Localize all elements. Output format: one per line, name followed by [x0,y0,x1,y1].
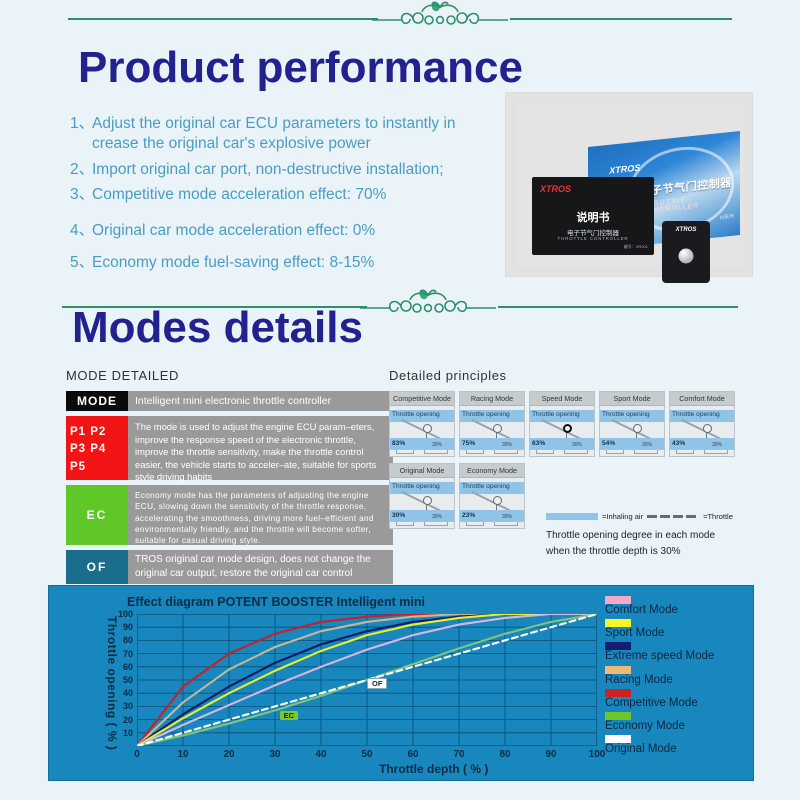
legend-item: Sport Mode [605,619,714,640]
list-item-text: Adjust the original car ECU parameters t… [92,114,500,154]
y-tick-label: 30 [123,701,133,711]
value-band: 63% [530,438,594,449]
throttle-opening-band: Throttle opening [390,482,454,494]
card-sub-label: Throttle opening [462,483,510,490]
list-item: 3、 Competitive mode acceleration effect:… [70,185,500,205]
x-tick-label: 40 [315,749,326,760]
detailed-principles-label: Detailed principles [389,368,735,383]
manual-english-subtitle: THROTTLE CONTROLLER [558,236,629,241]
x-tick-label: 10 [177,749,188,760]
throttle-opening-band: Throttle opening [670,410,734,422]
throttle-knob-icon [493,496,502,505]
x-tick-label: 80 [499,749,510,760]
legend-label: Original Mode [605,743,714,756]
row-key-ec: EC [66,485,128,545]
card-sub-label: Throttle opening [672,411,720,418]
product-manual: XTROS 说明书 电子节气门控制器 THROTTLE CONTROLLER 编… [532,177,654,255]
list-item-number: 2、 [70,160,92,180]
card-depth-label: 30% [572,442,582,448]
legend-caption-line2: when the throttle depth is 30% [546,544,761,560]
legend-swatch [605,642,631,650]
card-title: Sport Mode [600,392,664,406]
legend-label: Economy Mode [605,720,714,733]
table-row: OF TROS original car mode design, does n… [66,550,393,584]
x-tick-label: 0 [134,749,140,760]
card-diagram: Throttle opening 30% 30% [390,478,454,528]
chart-title: Effect diagram POTENT BOOSTER Intelligen… [127,595,425,609]
throttle-opening-band: Throttle opening [390,410,454,422]
throttle-knob-icon [423,424,432,433]
value-band: 43% [670,438,734,449]
list-item-text: Competitive mode acceleration effect: 70… [92,185,500,205]
value-band: 75% [460,438,524,449]
inhaling-air-label: =Inhaling air [602,512,643,521]
page-title: Product performance [78,45,523,91]
card-value: 30% [392,512,405,519]
throttle-opening-band: Throttle opening [460,410,524,422]
product-photo-inner: XTROS 电子节气门控制器 THROTTLE CONTROLLER M系列 X… [516,103,744,268]
legend-swatch [605,596,631,604]
mode-card-comfort: Comfort Mode Throttle opening 43% 30% [669,391,735,457]
table-row: MODE Intelligent mini electronic throttl… [66,391,393,411]
y-tick-label: 50 [123,675,133,685]
ornament-line-right [510,18,732,20]
legend-swatch [605,712,631,720]
box-model-label: M系列 [720,213,734,221]
table-row: EC Economy mode has the parameters of ad… [66,485,393,545]
mode-card-competitive: Competitive Mode Throttle opening 83% 30… [389,391,455,457]
product-photo: XTROS 电子节气门控制器 THROTTLE CONTROLLER M系列 X… [505,92,753,277]
throttle-knob-icon [423,496,432,505]
mode-card-sport: Sport Mode Throttle opening 54% 30% [599,391,665,457]
manual-code: 编号：XR001 [624,244,648,250]
throttle-opening-band: Throttle opening [460,482,524,494]
card-sub-label: Throttle opening [462,411,510,418]
card-diagram: Throttle opening 63% 30% [530,406,594,456]
mode-card-racing: Racing Mode Throttle opening 75% 30% [459,391,525,457]
list-item: 4、 Original car mode acceleration effect… [70,221,500,241]
legend-caption-line1: Throttle opening degree in each mode [546,528,761,544]
legend-label: Sport Mode [605,627,714,640]
device-knob-icon [679,248,694,263]
manual-chinese-title: 说明书 [577,209,610,225]
y-tick-label: 20 [123,715,133,725]
list-item-number: 3、 [70,185,92,205]
mode-detailed-label: MODE DETAILED [66,368,393,383]
list-item-number: 4、 [70,221,92,241]
value-band: 54% [600,438,664,449]
card-value: 83% [392,440,405,447]
row-value-of: TROS original car mode design, does not … [128,550,393,584]
legend-label: Racing Mode [605,674,714,687]
throttle-knob-icon [703,424,712,433]
chart-plot-area: 102030405060708090100 010203040506070809… [137,614,597,746]
mode-detailed-table: MODE Intelligent mini electronic throttl… [66,391,393,584]
card-depth-label: 30% [712,442,722,448]
card-title: Racing Mode [460,392,524,406]
x-tick-label: 90 [545,749,556,760]
card-value: 63% [532,440,545,447]
legend-item: Racing Mode [605,666,714,687]
legend-item: Competitive Mode [605,689,714,710]
card-base-icon [390,449,454,456]
throttle-knob-icon [493,424,502,433]
y-tick-label: 90 [123,622,133,632]
card-value: 23% [462,512,475,519]
legend-label: Extreme speed Mode [605,650,714,663]
legend-item: Original Mode [605,735,714,756]
ornament-divider-top [0,0,800,34]
x-tick-label: 60 [407,749,418,760]
chart-x-axis-label: Throttle depth ( % ) [379,762,488,776]
card-value: 54% [602,440,615,447]
value-band: 83% [390,438,454,449]
card-title: Competitive Mode [390,392,454,406]
list-item-text: Import original car port, non-destructiv… [92,160,500,180]
x-tick-label: 70 [453,749,464,760]
x-tick-label: 100 [589,749,606,760]
row-key-of: OF [66,550,128,584]
list-item: 5、 Economy mode fuel-saving effect: 8-15… [70,253,500,273]
legend-item: Extreme speed Mode [605,642,714,663]
legend-label: Competitive Mode [605,697,714,710]
card-base-icon [600,449,664,456]
card-base-icon [460,521,524,528]
card-base-icon [530,449,594,456]
annotation-ec: EC [280,711,298,720]
row-value-ec: Economy mode has the parameters of adjus… [128,485,393,545]
row-key-p-modes: P1 P2 P3 P4 P5 [66,416,128,480]
legend-swatch [605,666,631,674]
y-tick-label: 60 [123,662,133,672]
inhaling-air-swatch [546,513,598,520]
table-row: P1 P2 P3 P4 P5 The mode is used to adjus… [66,416,393,480]
product-performance-section: Product performance 1、 Adjust the origin… [0,0,800,34]
card-diagram: Throttle opening 83% 30% [390,406,454,456]
card-sub-label: Throttle opening [532,411,580,418]
card-diagram: Throttle opening 75% 30% [460,406,524,456]
mode-card-original: Original Mode Throttle opening 30% 30% [389,463,455,529]
chart-legend: Comfort Mode Sport Mode Extreme speed Mo… [605,596,714,759]
legend-item: Comfort Mode [605,596,714,617]
value-band: 23% [460,510,524,521]
throttle-knob-icon [563,424,572,433]
card-depth-label: 30% [502,442,512,448]
flourish-icon [372,0,508,34]
throttle-knob-icon [633,424,642,433]
card-title: Comfort Mode [670,392,734,406]
card-title: Speed Mode [530,392,594,406]
row-value-p-modes: The mode is used to adjust the engine EC… [128,416,393,480]
controller-device: XTROS [662,221,710,283]
product-feature-list: 1、 Adjust the original car ECU parameter… [70,114,500,279]
card-value: 43% [672,440,685,447]
card-depth-label: 30% [432,442,442,448]
chart-y-axis-label: Throttle opening ( % ) [105,616,119,750]
legend-swatch [605,735,631,743]
legend-swatch [605,619,631,627]
card-base-icon [390,521,454,528]
card-sub-label: Throttle opening [602,411,650,418]
annotation-of: OF [367,678,387,689]
card-diagram: Throttle opening 23% 30% [460,478,524,528]
card-sub-label: Throttle opening [392,411,440,418]
value-band: 30% [390,510,454,521]
list-item-text: Original car mode acceleration effect: 0… [92,221,500,241]
modes-title: Modes details [72,305,363,351]
principle-cards-row-1: Competitive Mode Throttle opening 83% 30… [389,391,735,457]
card-base-icon [670,449,734,456]
list-item-number: 5、 [70,253,92,273]
card-depth-label: 30% [432,514,442,520]
effect-diagram-chart: Effect diagram POTENT BOOSTER Intelligen… [48,585,754,781]
y-tick-label: 70 [123,649,133,659]
device-brand-logo: XTROS [676,227,697,233]
list-item-text: Economy mode fuel-saving effect: 8-15% [92,253,500,273]
list-item-number: 1、 [70,114,92,154]
legend-swatch [605,689,631,697]
card-value: 75% [462,440,475,447]
row-value-mode: Intelligent mini electronic throttle con… [128,391,393,411]
x-tick-label: 30 [269,749,280,760]
ornament-line-right [498,306,738,308]
list-item: 2、 Import original car port, non-destruc… [70,160,500,180]
y-tick-label: 80 [123,635,133,645]
throttle-opening-band: Throttle opening [530,410,594,422]
throttle-label: =Throttle [703,512,733,521]
card-diagram: Throttle opening 43% 30% [670,406,734,456]
legend-item: Economy Mode [605,712,714,733]
card-depth-label: 30% [502,514,512,520]
y-tick-label: 100 [118,609,133,619]
throttle-opening-band: Throttle opening [600,410,664,422]
card-title: Economy Mode [460,464,524,478]
principles-legend: =Inhaling air =Throttle Throttle opening… [546,512,761,560]
throttle-swatch [647,515,699,518]
card-title: Original Mode [390,464,454,478]
manual-brand-logo: XTROS [540,184,571,194]
legend-label: Comfort Mode [605,604,714,617]
legend-row: =Inhaling air =Throttle [546,512,761,521]
flourish-icon [360,288,496,322]
row-key-mode: MODE [66,391,128,411]
mode-card-speed: Speed Mode Throttle opening 63% 30% [529,391,595,457]
mode-card-economy: Economy Mode Throttle opening 23% 30% [459,463,525,529]
card-sub-label: Throttle opening [392,483,440,490]
x-tick-label: 50 [361,749,372,760]
ornament-line-left [68,18,378,20]
card-depth-label: 30% [642,442,652,448]
card-base-icon [460,449,524,456]
y-tick-label: 40 [123,688,133,698]
y-tick-label: 10 [123,728,133,738]
list-item: 1、 Adjust the original car ECU parameter… [70,114,500,154]
x-tick-label: 20 [223,749,234,760]
card-diagram: Throttle opening 54% 30% [600,406,664,456]
